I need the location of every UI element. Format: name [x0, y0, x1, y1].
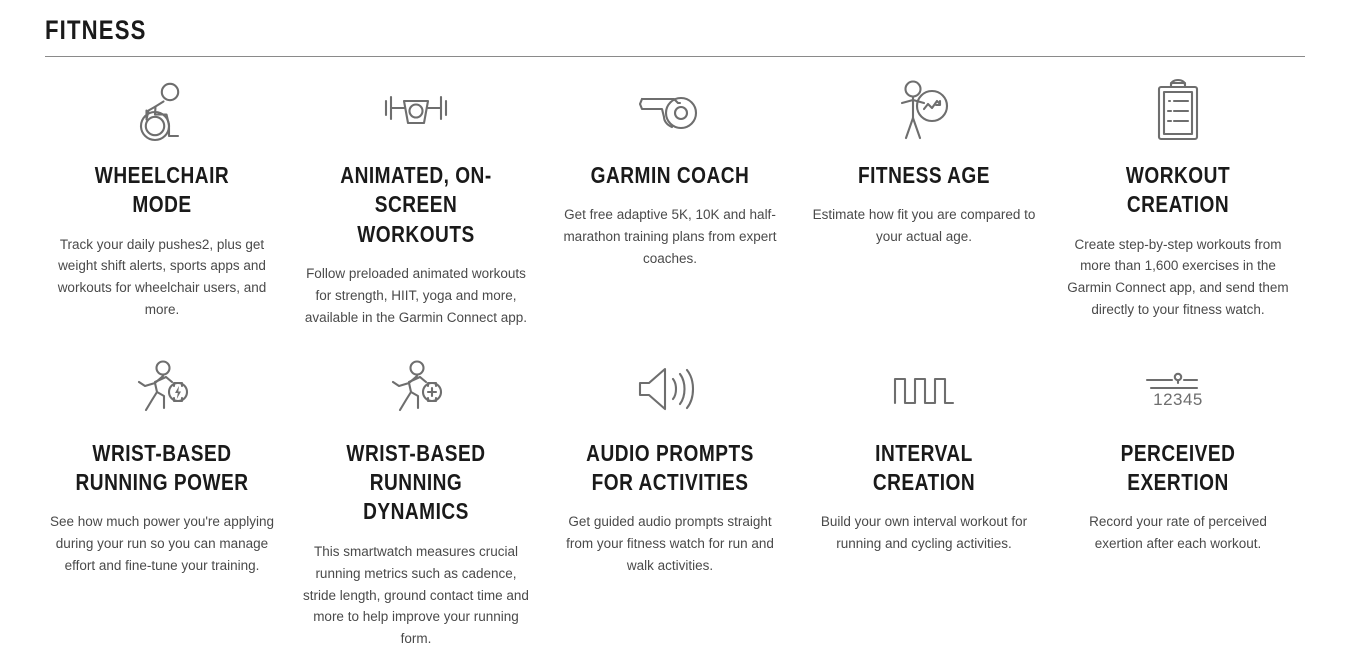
feature-card-fitness-age: FITNESS AGE Estimate how fit you are com… [797, 75, 1051, 329]
feature-description: Follow preloaded animated workouts for s… [303, 263, 529, 329]
person-chart-icon [811, 75, 1037, 147]
square-wave-icon [811, 353, 1037, 425]
feature-grid-row-1: WHEELCHAIR MODE Track your daily pushes2… [0, 57, 1350, 329]
feature-title: ANIMATED, ON-SCREEN WORKOUTS [322, 161, 510, 249]
feature-card-wheelchair-mode: WHEELCHAIR MODE Track your daily pushes2… [35, 75, 289, 329]
feature-description: Get guided audio prompts straight from y… [557, 511, 783, 577]
feature-description: See how much power you're applying durin… [49, 511, 275, 577]
feature-card-interval-creation: INTERVAL CREATION Build your own interva… [797, 353, 1051, 651]
speaker-sound-icon [557, 353, 783, 425]
clipboard-list-icon [1065, 75, 1291, 147]
page-title: FITNESS [45, 10, 1078, 56]
feature-card-workout-creation: WORKOUT CREATION Create step-by-step wor… [1051, 75, 1305, 329]
feature-card-garmin-coach: GARMIN COACH Get free adaptive 5K, 10K a… [543, 75, 797, 329]
feature-title: INTERVAL CREATION [830, 439, 1018, 498]
feature-description: Track your daily pushes2, plus get weigh… [49, 234, 275, 321]
wheelchair-icon [49, 75, 275, 147]
feature-card-running-dynamics: WRIST-BASED RUNNING DYNAMICS This smartw… [289, 353, 543, 651]
feature-description: Create step-by-step workouts from more t… [1065, 234, 1291, 321]
feature-title: PERCEIVED EXERTION [1084, 439, 1272, 498]
feature-title: WRIST-BASED RUNNING POWER [68, 439, 256, 498]
feature-title: WHEELCHAIR MODE [68, 161, 256, 220]
fitness-features-page: FITNESS WHEELCHAIR MODE Track your daily… [0, 0, 1350, 657]
exertion-scale-icon: 12345 [1065, 353, 1291, 425]
feature-card-perceived-exertion: 12345 PERCEIVED EXERTION Record your rat… [1051, 353, 1305, 651]
exertion-scale-numbers: 12345 [1153, 390, 1203, 409]
feature-title: WORKOUT CREATION [1084, 161, 1272, 220]
runner-watch-power-icon [49, 353, 275, 425]
runner-watch-dynamics-icon [303, 353, 529, 425]
feature-card-running-power: WRIST-BASED RUNNING POWER See how much p… [35, 353, 289, 651]
feature-grid-row-2: WRIST-BASED RUNNING POWER See how much p… [0, 329, 1350, 651]
feature-description: Estimate how fit you are compared to you… [811, 204, 1037, 248]
feature-title: FITNESS AGE [830, 161, 1018, 190]
feature-card-audio-prompts: AUDIO PROMPTS FOR ACTIVITIES Get guided … [543, 353, 797, 651]
feature-card-animated-workouts: ANIMATED, ON-SCREEN WORKOUTS Follow prel… [289, 75, 543, 329]
section-header: FITNESS [0, 0, 1350, 57]
bench-press-icon [303, 75, 529, 147]
feature-description: Build your own interval workout for runn… [811, 511, 1037, 555]
feature-title: AUDIO PROMPTS FOR ACTIVITIES [576, 439, 764, 498]
feature-description: Record your rate of perceived exertion a… [1065, 511, 1291, 555]
feature-description: Get free adaptive 5K, 10K and half-marat… [557, 204, 783, 270]
feature-title: WRIST-BASED RUNNING DYNAMICS [322, 439, 510, 527]
feature-title: GARMIN COACH [576, 161, 764, 190]
whistle-icon [557, 75, 783, 147]
feature-description: This smartwatch measures crucial running… [303, 541, 529, 650]
